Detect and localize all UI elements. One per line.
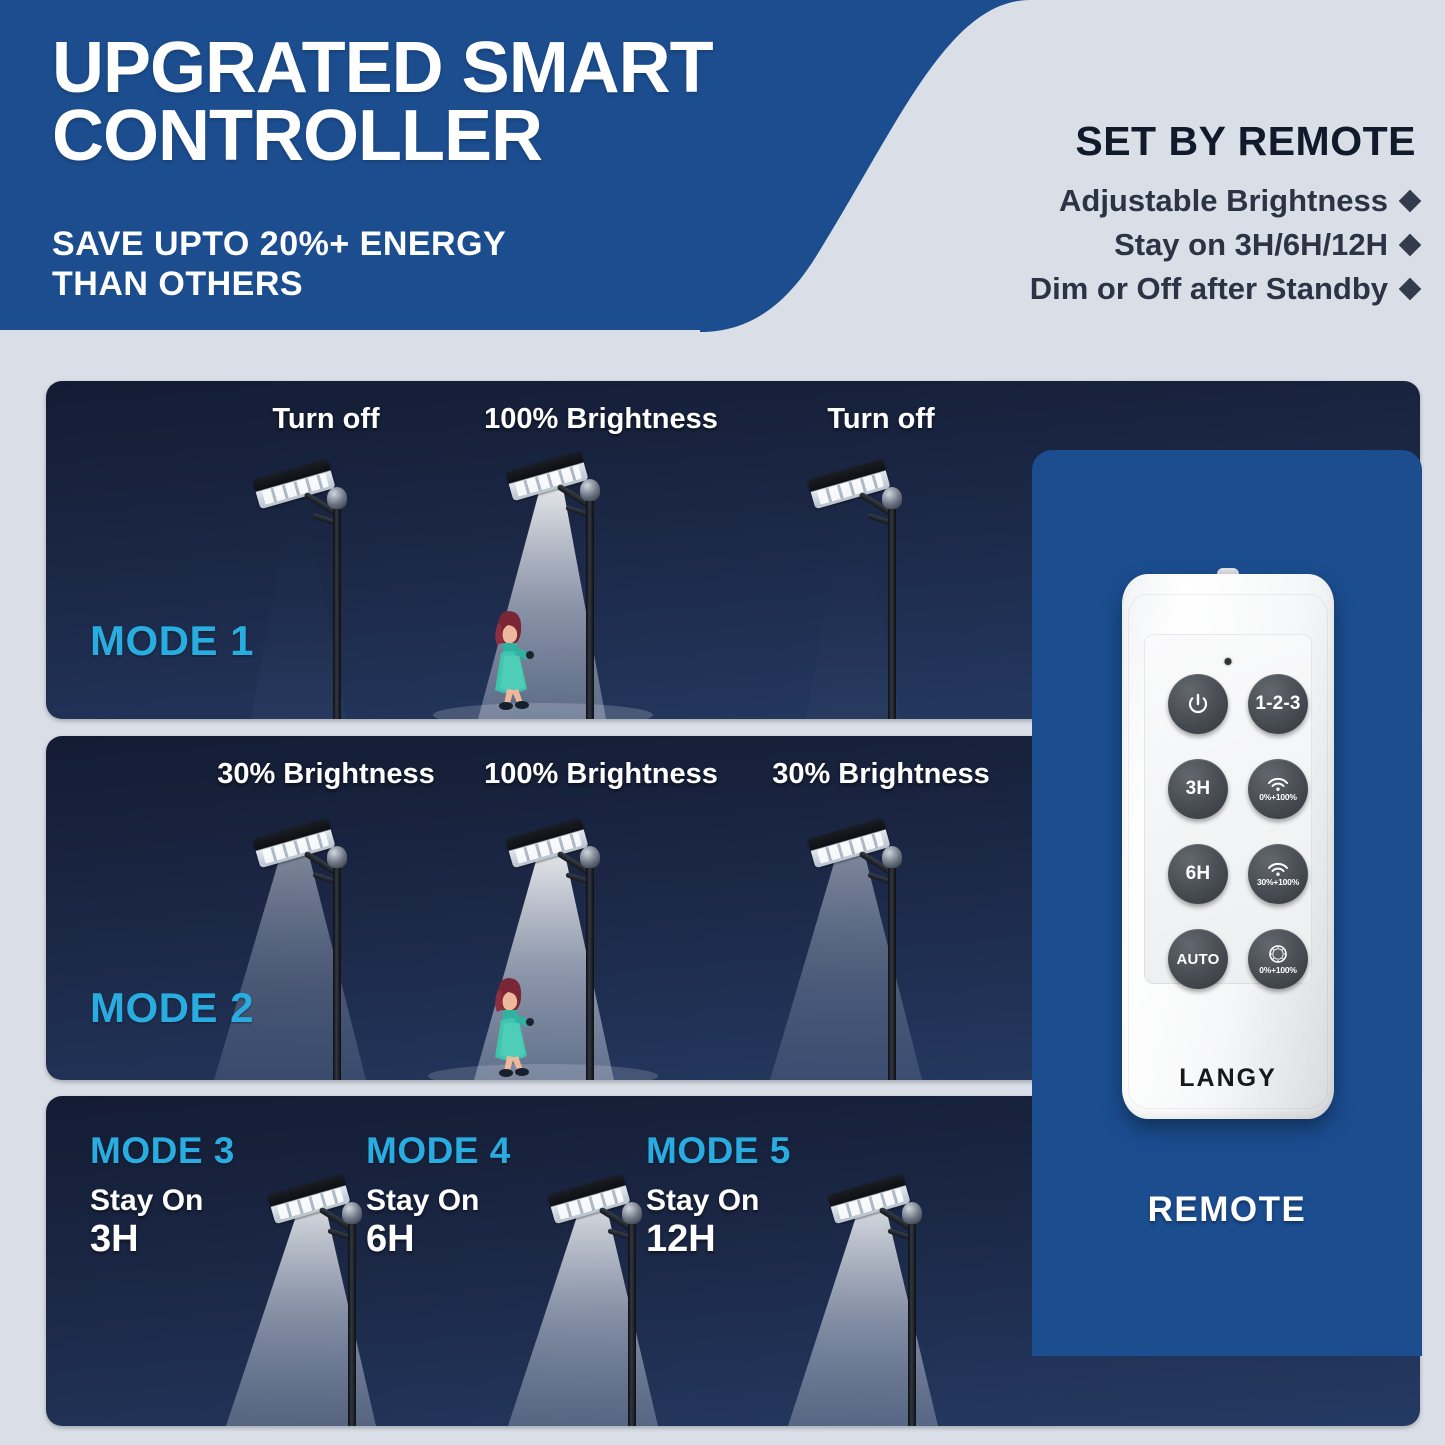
mode-4-stay: Stay On: [366, 1184, 511, 1218]
mode-4-label: MODE 4: [366, 1130, 511, 1172]
feature-item: Stay on 3H/6H/12H: [950, 223, 1428, 267]
lamp-pole: [333, 858, 341, 1080]
title-line-2: CONTROLLER: [52, 102, 952, 170]
mode-5-hours: 12H: [646, 1218, 791, 1261]
page-title: UPGRATED SMART CONTROLLER: [52, 34, 952, 171]
feature-label: Dim or Off after Standby: [1030, 267, 1388, 311]
lamp-pole-cap: [327, 846, 347, 868]
mode-3-stay: Stay On: [90, 1184, 235, 1218]
mode-5-label: MODE 5: [646, 1130, 791, 1172]
set-by-remote-heading: SET BY REMOTE: [950, 118, 1428, 165]
mode2-caption-left: 30% Brightness: [217, 758, 435, 791]
remote-dim-30-100-label: 30%+100%: [1257, 877, 1299, 887]
mode-4-hours: 6H: [366, 1218, 511, 1261]
lamp-pole: [586, 491, 594, 719]
subtitle-line-2: THAN OTHERS: [52, 264, 812, 304]
lamp-pole-cap: [882, 487, 902, 509]
infographic-canvas: UPGRATED SMART CONTROLLER SAVE UPTO 20%+…: [0, 0, 1445, 1445]
mode-3-block: MODE 3 Stay On 3H: [90, 1130, 235, 1260]
remote-6h-label: 6H: [1186, 863, 1211, 885]
remote-auto-button[interactable]: AUTO: [1168, 929, 1228, 989]
feature-label: Adjustable Brightness: [1059, 179, 1388, 223]
power-icon: [1186, 692, 1210, 716]
lamp-pole: [888, 499, 896, 719]
remote-preset-button[interactable]: 1-2-3: [1248, 674, 1308, 734]
diamond-bullet-icon: [1399, 190, 1422, 213]
mode-3-label: MODE 3: [90, 1130, 235, 1172]
mode-5-block: MODE 5 Stay On 12H: [646, 1130, 791, 1260]
feature-label: Stay on 3H/6H/12H: [1114, 223, 1388, 267]
remote-dim-0-100-button[interactable]: 0%+100%: [1248, 759, 1308, 819]
remote-timer-button[interactable]: 0%+100%: [1248, 929, 1308, 989]
lamp-pole-cap: [882, 846, 902, 868]
diamond-bullet-icon: [1399, 278, 1422, 301]
remote-led-indicator: [1225, 658, 1232, 665]
lamp-pole: [586, 858, 594, 1080]
pedestrian-figure: [478, 970, 542, 1078]
mode1-caption-right: Turn off: [827, 403, 934, 436]
feature-item: Adjustable Brightness: [950, 179, 1428, 223]
remote-3h-label: 3H: [1186, 778, 1211, 800]
signal-icon: [1267, 862, 1289, 876]
remote-control-device[interactable]: 1-2-3 3H 0%+100% 6H: [1122, 574, 1334, 1119]
lamp-pole-cap: [902, 1202, 922, 1224]
lamp-pole: [333, 499, 341, 719]
lamp-pole-cap: [622, 1202, 642, 1224]
set-by-remote-block: SET BY REMOTE Adjustable Brightness Stay…: [950, 118, 1428, 311]
pedestrian-figure: [478, 603, 542, 711]
timer-icon: [1268, 944, 1288, 964]
remote-keypad: 1-2-3 3H 0%+100% 6H: [1144, 634, 1312, 984]
remote-preset-label: 1-2-3: [1255, 693, 1300, 715]
signal-icon: [1267, 777, 1289, 791]
remote-dim-30-100-button[interactable]: 30%+100%: [1248, 844, 1308, 904]
remote-6h-button[interactable]: 6H: [1168, 844, 1228, 904]
lamp-pole: [908, 1214, 916, 1426]
mode-2-label: MODE 2: [90, 984, 254, 1032]
lamp-pole-cap: [327, 487, 347, 509]
mode-3-hours: 3H: [90, 1218, 235, 1261]
mode2-caption-right: 30% Brightness: [772, 758, 990, 791]
remote-caption: REMOTE: [1032, 1190, 1422, 1230]
remote-brand-logo: LANGY: [1122, 1064, 1334, 1093]
lamp-pole: [888, 858, 896, 1080]
remote-timer-label: 0%+100%: [1259, 965, 1297, 975]
mode2-caption-center: 100% Brightness: [484, 758, 718, 791]
lamp-pole-cap: [580, 846, 600, 868]
remote-3h-button[interactable]: 3H: [1168, 759, 1228, 819]
lamp-pole: [628, 1214, 636, 1426]
mode1-caption-left: Turn off: [272, 403, 379, 436]
remote-power-button[interactable]: [1168, 674, 1228, 734]
remote-dim-0-100-label: 0%+100%: [1259, 792, 1297, 802]
lamp-pole: [348, 1214, 356, 1426]
mode-1-label: MODE 1: [90, 617, 254, 665]
mode-4-block: MODE 4 Stay On 6H: [366, 1130, 511, 1260]
mode-5-stay: Stay On: [646, 1184, 791, 1218]
diamond-bullet-icon: [1399, 234, 1422, 257]
lamp-pole-cap: [580, 479, 600, 501]
mode1-caption-center: 100% Brightness: [484, 403, 718, 436]
remote-auto-label: AUTO: [1176, 951, 1219, 968]
subtitle-line-1: SAVE UPTO 20%+ ENERGY: [52, 224, 812, 264]
feature-item: Dim or Off after Standby: [950, 267, 1428, 311]
page-subtitle: SAVE UPTO 20%+ ENERGY THAN OTHERS: [52, 224, 812, 304]
lamp-pole-cap: [342, 1202, 362, 1224]
